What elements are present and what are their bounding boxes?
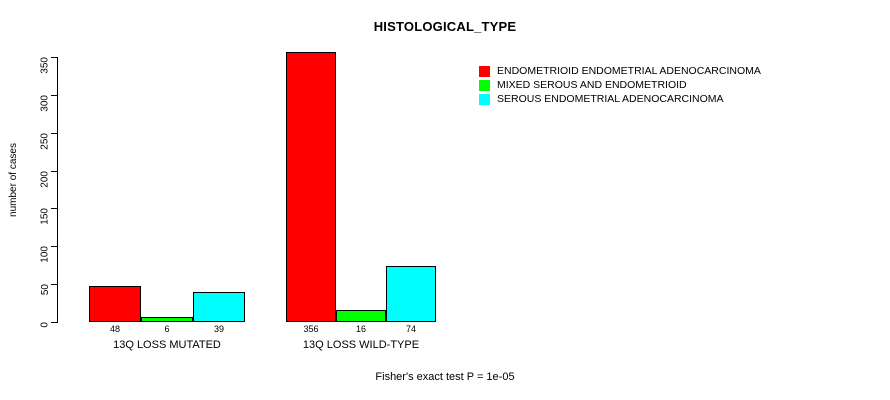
legend-color-swatch	[479, 80, 490, 91]
legend-color-swatch	[479, 66, 490, 77]
legend-color-swatch	[479, 94, 490, 105]
group-axis-label: 13Q LOSS WILD-TYPE	[246, 340, 476, 351]
legend-item-label: SEROUS ENDOMETRIAL ADENOCARCINOMA	[497, 94, 724, 105]
bar-value-label: 39	[193, 325, 245, 334]
bar	[386, 266, 436, 322]
legend-item: SEROUS ENDOMETRIAL ADENOCARCINOMA	[479, 92, 761, 106]
legend-item-label: ENDOMETRIOID ENDOMETRIAL ADENOCARCINOMA	[497, 66, 761, 77]
legend-item: ENDOMETRIOID ENDOMETRIAL ADENOCARCINOMA	[479, 64, 761, 78]
legend-item-label: MIXED SEROUS AND ENDOMETRIOID	[497, 80, 687, 91]
bar-value-label: 16	[336, 325, 386, 334]
bar	[141, 317, 193, 322]
legend-item: MIXED SEROUS AND ENDOMETRIOID	[479, 78, 761, 92]
bar	[89, 286, 141, 322]
bar-value-label: 6	[141, 325, 193, 334]
bar	[193, 292, 245, 322]
bar-value-label: 356	[286, 325, 336, 334]
bar-value-label: 74	[386, 325, 436, 334]
bar	[286, 52, 336, 322]
bars-layer: 4863913Q LOSS MUTATED356167413Q LOSS WIL…	[0, 0, 890, 400]
statistical-test-annotation: Fisher's exact test P = 1e-05	[0, 371, 890, 383]
bar	[336, 310, 386, 322]
chart-container: HISTOLOGICAL_TYPE 050100150200250300350 …	[0, 0, 890, 400]
bar-value-label: 48	[89, 325, 141, 334]
chart-legend: ENDOMETRIOID ENDOMETRIAL ADENOCARCINOMAM…	[479, 64, 761, 106]
